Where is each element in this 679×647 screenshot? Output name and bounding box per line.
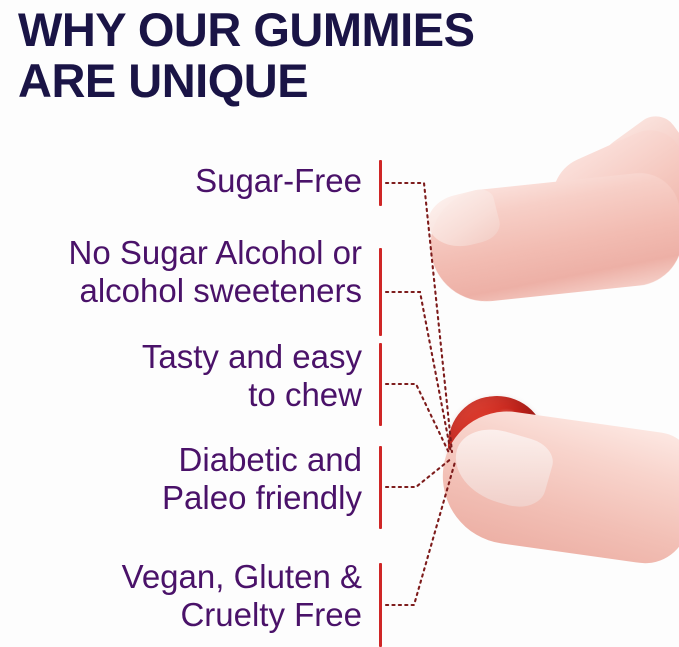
benefit-item-no-sugar-alcohol: No Sugar Alcohol or alcohol sweeteners [0, 234, 370, 310]
benefit-item-tasty-easy-chew: Tasty and easy to chew [0, 338, 370, 414]
tick-mark-5 [379, 563, 382, 647]
benefit-item-sugar-free: Sugar-Free [0, 162, 370, 200]
product-photo [412, 120, 679, 647]
infographic-canvas: WHY OUR GUMMIES ARE UNIQUE Sugar-Free No… [0, 0, 679, 647]
tick-mark-1 [379, 160, 382, 206]
benefit-item-vegan-gluten-cruelty-free: Vegan, Gluten & Cruelty Free [0, 558, 370, 634]
tick-mark-3 [379, 343, 382, 426]
tick-mark-4 [379, 446, 382, 529]
benefit-item-diabetic-paleo: Diabetic and Paleo friendly [0, 441, 370, 517]
page-title: WHY OUR GUMMIES ARE UNIQUE [18, 4, 658, 106]
tick-mark-2 [379, 248, 382, 336]
